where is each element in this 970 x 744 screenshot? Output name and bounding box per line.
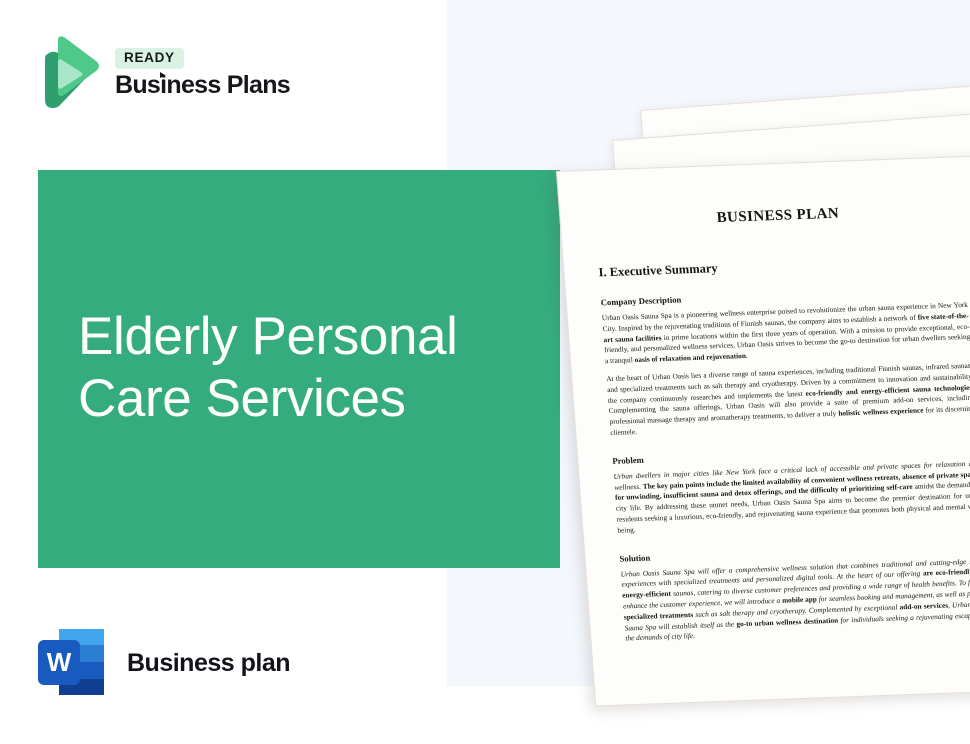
- microsoft-word-icon: W: [34, 626, 108, 700]
- brand-header[interactable]: READY Business Plans: [40, 34, 290, 110]
- document-paragraph: Urban dwellers in major cities like New …: [613, 458, 970, 536]
- svg-text:W: W: [47, 647, 72, 677]
- file-label: Business plan: [127, 649, 290, 678]
- file-chip[interactable]: W Business plan: [34, 626, 290, 700]
- brand-wordmark-text: Business Plans: [115, 71, 290, 99]
- document-body: BUSINESS PLAN I. Executive Summary Compa…: [557, 156, 970, 673]
- presentation-canvas: READY Business Plans Elderly Personal Ca…: [0, 0, 970, 744]
- brand-wordmark: Business Plans: [115, 71, 290, 100]
- page-title: Elderly Personal Care Services: [78, 306, 548, 430]
- document-paragraph: Urban Oasis Sauna Spa will offer a compr…: [620, 556, 970, 645]
- hero-card: Elderly Personal Care Services: [38, 170, 560, 568]
- play-triangle-logo-icon: [40, 34, 102, 110]
- document-section-heading: I. Executive Summary: [598, 252, 965, 280]
- document-title: BUSINESS PLAN: [594, 201, 961, 231]
- wordmark-play-tick-icon: [160, 72, 165, 78]
- brand-text-block: READY Business Plans: [115, 44, 290, 99]
- ready-badge: READY: [115, 48, 184, 69]
- document-page-front[interactable]: BUSINESS PLAN I. Executive Summary Compa…: [556, 155, 970, 706]
- document-paragraph: At the heart of Urban Oasis lies a diver…: [606, 361, 970, 439]
- document-paragraph: Urban Oasis Sauna Spa is a pioneering we…: [602, 300, 970, 367]
